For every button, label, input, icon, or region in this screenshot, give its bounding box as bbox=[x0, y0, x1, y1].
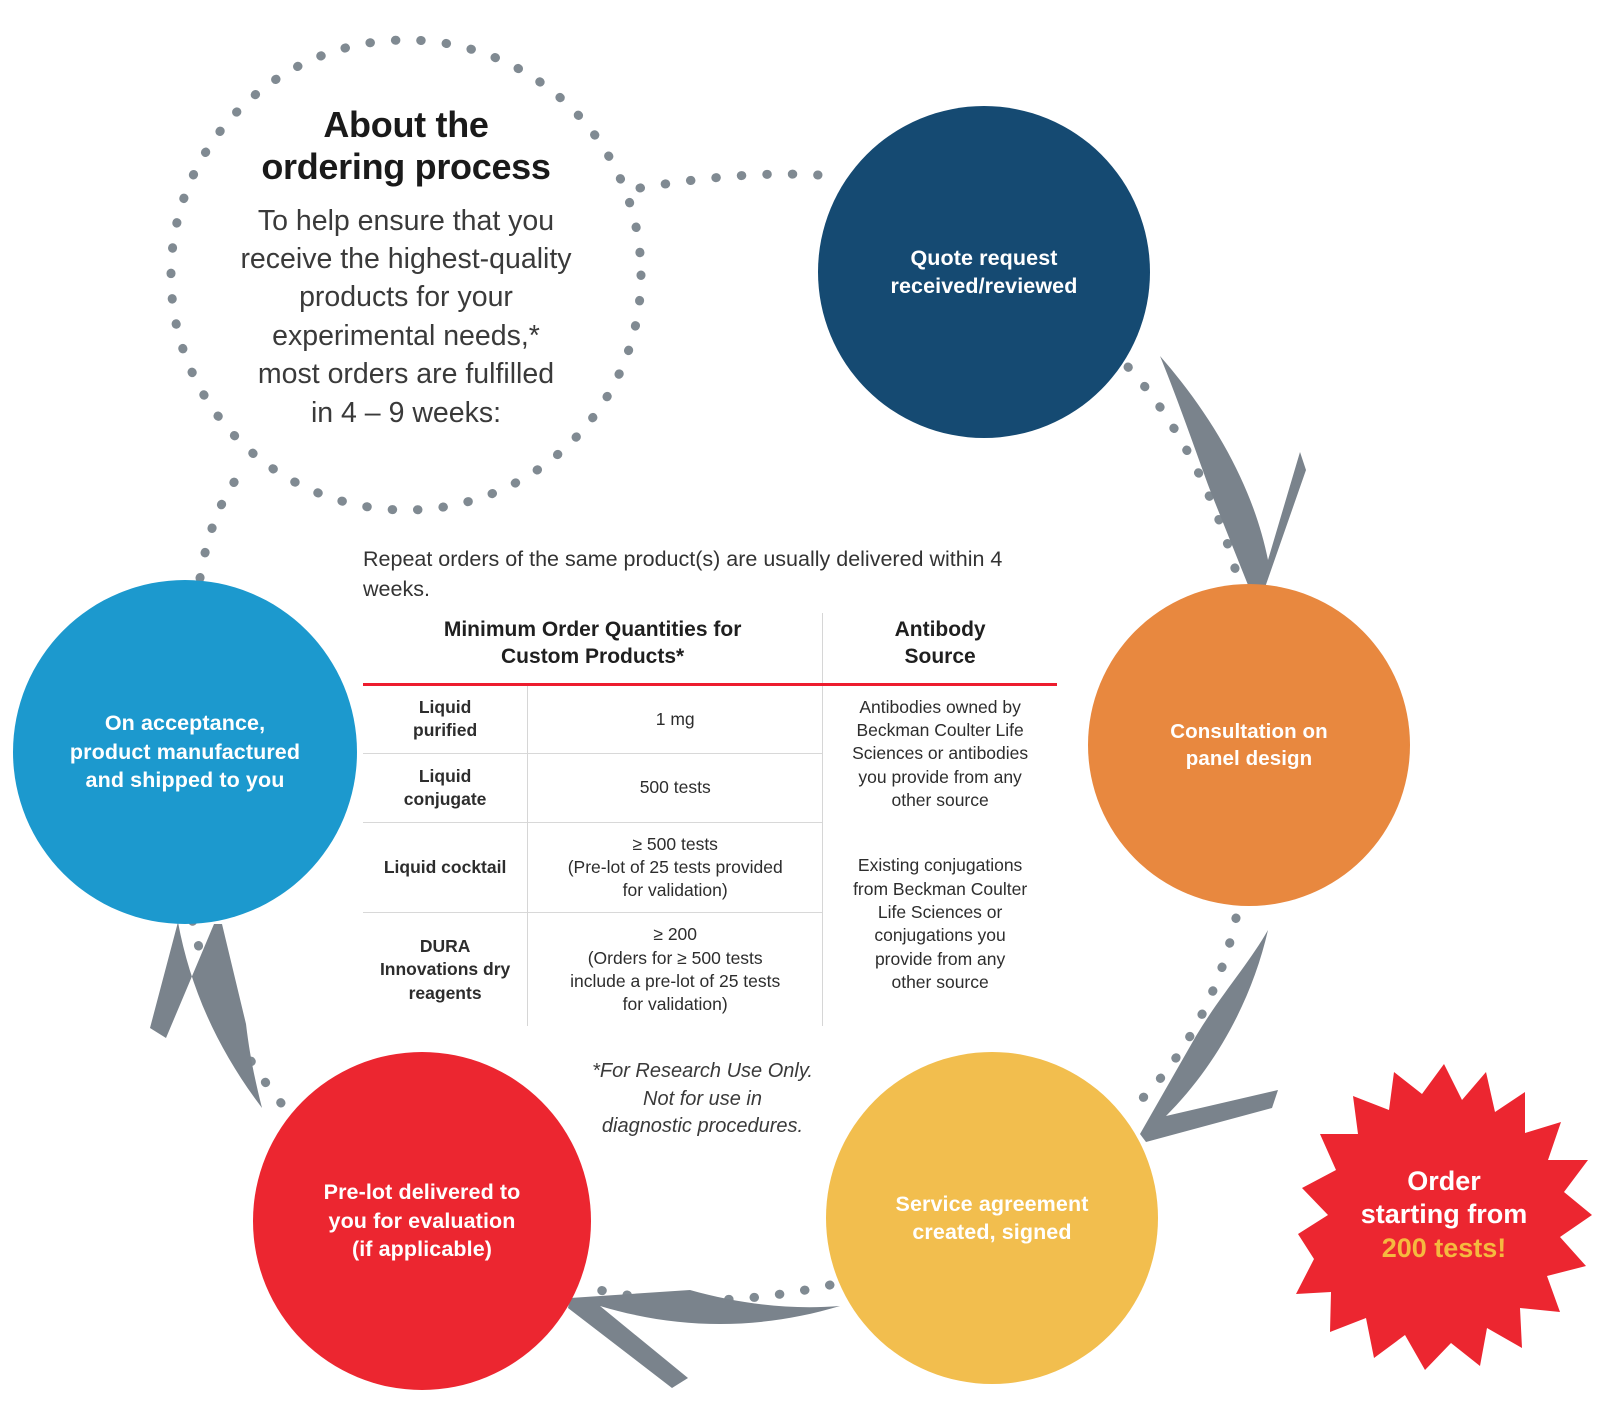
step-circle-consultation[interactable]: Consultation on panel design bbox=[1088, 584, 1410, 906]
order-starting-from-badge[interactable]: Order starting from 200 tests! bbox=[1296, 1060, 1592, 1370]
step-circle-on-acceptance[interactable]: On acceptance, product manufactured and … bbox=[13, 580, 357, 924]
table-cell-product-name: Liquid cocktail bbox=[363, 822, 528, 913]
infographic-canvas: About the ordering process To help ensur… bbox=[0, 0, 1600, 1424]
research-use-footnote: *For Research Use Only. Not for use in d… bbox=[545, 1058, 860, 1141]
table-cell-quantity: ≥ 200 (Orders for ≥ 500 tests include a … bbox=[528, 913, 823, 1027]
step-circle-quote-request[interactable]: Quote request received/reviewed bbox=[818, 106, 1150, 438]
arrow-service-to-prelot bbox=[568, 1290, 840, 1388]
badge-text-block: Order starting from 200 tests! bbox=[1296, 1060, 1592, 1370]
table-header-row: Minimum Order Quantities for Custom Prod… bbox=[363, 613, 1057, 684]
minimum-order-quantities-table: Minimum Order Quantities for Custom Prod… bbox=[363, 613, 1057, 1026]
step-label-service-agreement: Service agreement created, signed bbox=[882, 1190, 1103, 1247]
table-header-moq: Minimum Order Quantities for Custom Prod… bbox=[363, 613, 823, 684]
table-cell-product-name: DURA Innovations dry reagents bbox=[363, 913, 528, 1027]
dotted-connector-accept-to-intro bbox=[200, 470, 243, 578]
badge-line-1: Order bbox=[1407, 1165, 1481, 1198]
table-row: Liquid purified 1 mg Antibodies owned by… bbox=[363, 684, 1057, 753]
badge-line-2: starting from bbox=[1361, 1198, 1528, 1231]
step-label-consultation: Consultation on panel design bbox=[1156, 718, 1342, 772]
step-label-on-acceptance: On acceptance, product manufactured and … bbox=[56, 709, 314, 794]
intro-title: About the ordering process bbox=[206, 104, 606, 188]
table-cell-product-name: Liquid conjugate bbox=[363, 754, 528, 822]
table-row: Liquid cocktail ≥ 500 tests (Pre-lot of … bbox=[363, 822, 1057, 913]
intro-body: To help ensure that you receive the high… bbox=[206, 202, 606, 433]
step-label-quote-request: Quote request received/reviewed bbox=[877, 244, 1092, 301]
step-circle-pre-lot-delivered[interactable]: Pre-lot delivered to you for evaluation … bbox=[253, 1052, 591, 1390]
arrow-prelot-to-accept bbox=[150, 922, 262, 1108]
table-cell-quantity: ≥ 500 tests (Pre-lot of 25 tests provide… bbox=[528, 822, 823, 913]
repeat-orders-note: Repeat orders of the same product(s) are… bbox=[363, 545, 1053, 604]
step-circle-service-agreement[interactable]: Service agreement created, signed bbox=[826, 1052, 1158, 1384]
table-header-antibody-source: Antibody Source bbox=[823, 613, 1057, 684]
table-cell-quantity: 500 tests bbox=[528, 754, 823, 822]
intro-bubble: About the ordering process To help ensur… bbox=[206, 104, 606, 432]
table-cell-antibody-source: Existing conjugations from Beckman Coult… bbox=[823, 822, 1057, 1026]
arrow-quote-to-consult bbox=[1160, 356, 1306, 600]
table-cell-antibody-source: Antibodies owned by Beckman Coulter Life… bbox=[823, 684, 1057, 822]
table-cell-quantity: 1 mg bbox=[528, 684, 823, 753]
arrow-consult-to-service bbox=[1140, 930, 1278, 1142]
dotted-connector-intro-to-quote bbox=[640, 174, 818, 188]
table-cell-product-name: Liquid purified bbox=[363, 684, 528, 753]
step-label-pre-lot-delivered: Pre-lot delivered to you for evaluation … bbox=[310, 1178, 535, 1263]
badge-line-3-highlight: 200 tests! bbox=[1382, 1232, 1507, 1265]
